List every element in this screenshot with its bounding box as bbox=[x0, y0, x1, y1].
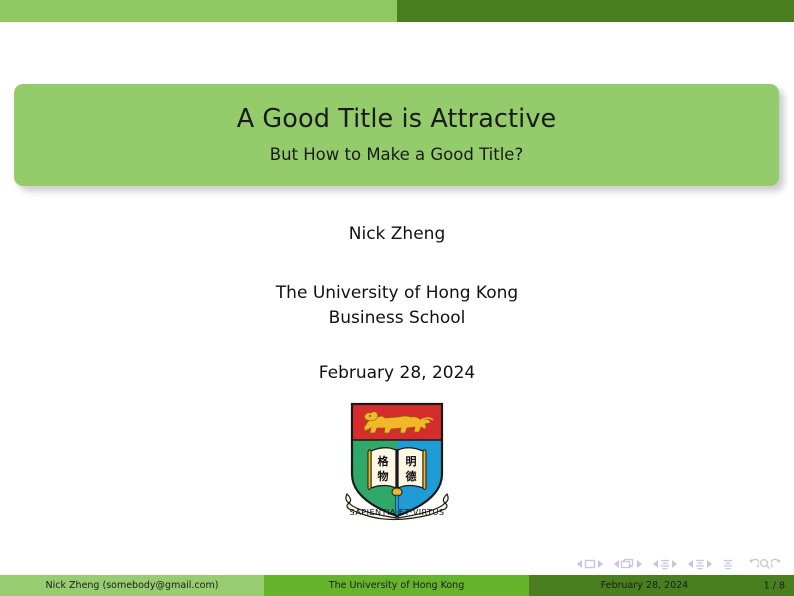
section-prev-arrow-icon[interactable] bbox=[687, 559, 694, 569]
slide-next-arrow-icon[interactable] bbox=[597, 559, 604, 569]
frame-next-arrow-icon[interactable] bbox=[636, 559, 643, 569]
nav-history-group[interactable] bbox=[748, 558, 782, 570]
nav-section-group[interactable] bbox=[687, 558, 713, 571]
footer-page-number: 1 / 8 bbox=[764, 580, 785, 591]
slide-prev-arrow-icon[interactable] bbox=[576, 559, 583, 569]
subsection-prev-arrow-icon[interactable] bbox=[652, 559, 659, 569]
back-icon[interactable] bbox=[748, 558, 759, 570]
nav-presentation-group[interactable] bbox=[722, 558, 734, 571]
motto-text: SAPIENTIA·ET·VIRTUS bbox=[350, 507, 445, 517]
institute-block: The University of Hong Kong Business Sch… bbox=[0, 281, 794, 330]
title-metadata: Nick Zheng The University of Hong Kong B… bbox=[0, 224, 794, 383]
hku-crest-logo: 格 物 明 德 SAPIENTIA·ET·VIRTUS bbox=[341, 396, 453, 522]
nav-subsection-group[interactable] bbox=[652, 558, 678, 571]
forward-icon[interactable] bbox=[771, 558, 782, 570]
hku-crest-icon: 格 物 明 德 SAPIENTIA·ET·VIRTUS bbox=[341, 396, 453, 522]
title-block: A Good Title is Attractive But How to Ma… bbox=[14, 84, 779, 186]
nav-frame-group[interactable] bbox=[613, 558, 643, 571]
footer-institute-text: The University of Hong Kong bbox=[329, 580, 464, 591]
section-icon[interactable] bbox=[694, 558, 706, 571]
search-icon[interactable] bbox=[759, 558, 771, 570]
author-name: Nick Zheng bbox=[0, 224, 794, 244]
book-char-wu: 物 bbox=[378, 469, 389, 483]
footer-author-section: Nick Zheng (somebody@gmail.com) bbox=[0, 575, 264, 596]
book-char-ge: 格 bbox=[378, 454, 390, 468]
presentation-icon[interactable] bbox=[722, 558, 734, 571]
beamer-slide: A Good Title is Attractive But How to Ma… bbox=[0, 0, 794, 596]
institute-line-2: Business School bbox=[0, 306, 794, 331]
header-decoration-bar bbox=[0, 0, 794, 22]
footer-date-section: February 28, 2024 1 / 8 bbox=[529, 575, 794, 596]
presentation-date: February 28, 2024 bbox=[0, 363, 794, 383]
footer-date-text: February 28, 2024 bbox=[529, 580, 794, 591]
page-title: A Good Title is Attractive bbox=[237, 105, 557, 136]
header-bar-left-segment bbox=[0, 0, 397, 22]
book-char-de: 德 bbox=[405, 469, 417, 483]
footer-institute-section: The University of Hong Kong bbox=[264, 575, 529, 596]
section-next-arrow-icon[interactable] bbox=[706, 559, 713, 569]
page-subtitle: But How to Make a Good Title? bbox=[270, 137, 523, 165]
slide-footer: Nick Zheng (somebody@gmail.com) The Univ… bbox=[0, 575, 794, 596]
subsection-next-arrow-icon[interactable] bbox=[671, 559, 678, 569]
footer-author-text: Nick Zheng (somebody@gmail.com) bbox=[46, 580, 219, 591]
subsection-icon[interactable] bbox=[659, 558, 671, 571]
nav-slide-group[interactable] bbox=[576, 558, 604, 570]
header-bar-right-segment bbox=[397, 0, 794, 22]
navigation-symbols[interactable] bbox=[576, 556, 782, 572]
institute-line-1: The University of Hong Kong bbox=[0, 281, 794, 306]
slide-icon[interactable] bbox=[583, 558, 597, 570]
book-char-ming: 明 bbox=[406, 455, 417, 468]
frame-prev-arrow-icon[interactable] bbox=[613, 559, 620, 569]
frame-icon[interactable] bbox=[620, 558, 636, 571]
